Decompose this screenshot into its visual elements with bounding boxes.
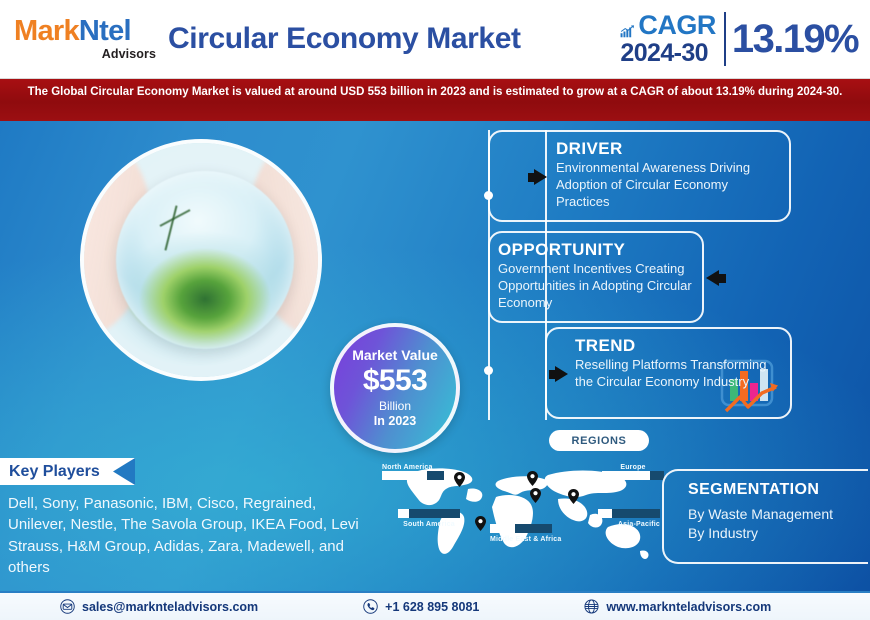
cagr-value: 13.19% [726,17,862,62]
key-players-list: Dell, Sony, Panasonic, IBM, Cisco, Regra… [8,493,368,578]
region-bar [598,509,660,518]
region-label: Europe [602,464,664,471]
page-title: Circular Economy Market [168,22,521,56]
logo-mark-text: Mark [14,15,79,47]
logo-subtitle: Advisors [14,47,162,61]
market-value-label: Market Value [352,348,438,364]
glass-sphere-shape [116,171,294,349]
rail-dot-bottom [484,366,493,375]
segmentation-line-2: By Industry [688,524,868,543]
trend-arrow-stem [549,370,556,379]
map-pin-middle-east-africa [530,488,541,503]
opportunity-text: Government Incentives Creating Opportuni… [498,260,692,311]
region-north-america: North America [382,464,444,480]
body-canvas: Market Value $553 Billion In 2023 DRIVER… [0,121,870,591]
market-value-year: In 2023 [374,414,416,428]
segmentation-lines: By Waste Management By Industry [688,505,868,543]
driver-card: DRIVER Environmental Awareness Driving A… [488,130,791,222]
region-bar [382,471,444,480]
trend-arrow-icon [555,366,568,382]
opportunity-card: OPPORTUNITY Government Incentives Creati… [488,231,704,323]
region-bar [602,471,664,480]
company-logo: MarkNtel Advisors [14,17,162,61]
region-middle-east-africa: Middle East & Africa [490,524,561,543]
regions-pill-label: REGIONS [549,430,649,451]
phone-icon [363,599,378,614]
infographic-page: MarkNtel Advisors Circular Economy Marke… [0,0,870,620]
cagr-label: CAGR [638,12,716,39]
region-bar-fill [398,509,409,518]
map-pin-asia-pacific [568,489,579,504]
cagr-label-group: CAGR 2024-30 [620,12,724,66]
footer-email[interactable]: sales@marknteladvisors.com [60,599,258,614]
map-pin-europe [527,471,538,486]
logo-wordmark: MarkNtel [14,17,162,46]
region-bar-fill [602,471,650,480]
region-bar [398,509,460,518]
bar-chart-growth-icon [620,24,635,39]
driver-arrow-stem [528,173,535,182]
segmentation-card: SEGMENTATION By Waste Management By Indu… [662,469,868,564]
globe-icon [584,599,599,614]
footer-phone[interactable]: +1 628 895 8081 [363,599,479,614]
footer-website-text: www.marknteladvisors.com [606,600,771,614]
trend-title: TREND [575,336,778,356]
footer-phone-text: +1 628 895 8081 [385,600,479,614]
envelope-icon [60,599,75,614]
region-bar [490,524,552,533]
cagr-years: 2024-30 [620,41,716,66]
region-south-america: South America [398,509,460,528]
market-value-unit: Billion [379,400,411,413]
region-bar-fill [382,471,427,480]
region-bar-fill [598,509,612,518]
market-value-amount: $553 [363,364,427,398]
summary-banner: The Global Circular Economy Market is va… [0,78,870,121]
segmentation-line-1: By Waste Management [688,505,868,524]
ribbon-notch-shape [113,458,135,485]
logo-ntel-text: Ntel [79,15,131,47]
region-bar-fill [490,524,515,533]
opportunity-arrow-stem [719,274,726,283]
opportunity-title: OPPORTUNITY [498,240,692,260]
trend-card: TREND Reselling Platforms Transforming t… [545,327,792,419]
cagr-label-row: CAGR [620,12,716,39]
trend-text: Reselling Platforms Transforming the Cir… [575,356,778,390]
map-pin-north-america [454,472,465,487]
region-label: North America [382,464,444,471]
cagr-badge: CAGR 2024-30 13.19% [620,8,862,70]
driver-arrow-icon [534,169,547,185]
header: MarkNtel Advisors Circular Economy Marke… [0,0,870,78]
map-pin-south-america [475,516,486,531]
key-players-title: Key Players [9,463,100,481]
region-label: Middle East & Africa [490,536,561,543]
footer-email-text: sales@marknteladvisors.com [82,600,258,614]
region-label: South America [398,521,460,528]
region-label: Asia-Pacific [598,521,660,528]
region-asia-pacific: Asia-Pacific [598,509,660,528]
region-europe: Europe [602,464,664,480]
key-players-ribbon: Key Players [0,458,135,485]
segmentation-title: SEGMENTATION [688,481,868,499]
footer-website[interactable]: www.marknteladvisors.com [584,599,771,614]
driver-text: Environmental Awareness Driving Adoption… [556,159,777,210]
footer-contact-bar: sales@marknteladvisors.com +1 628 895 80… [0,591,870,620]
market-value-bubble: Market Value $553 Billion In 2023 [330,323,460,453]
opportunity-arrow-icon [706,270,719,286]
driver-title: DRIVER [556,139,777,159]
hand-holding-glass-sphere-photo [80,139,322,381]
